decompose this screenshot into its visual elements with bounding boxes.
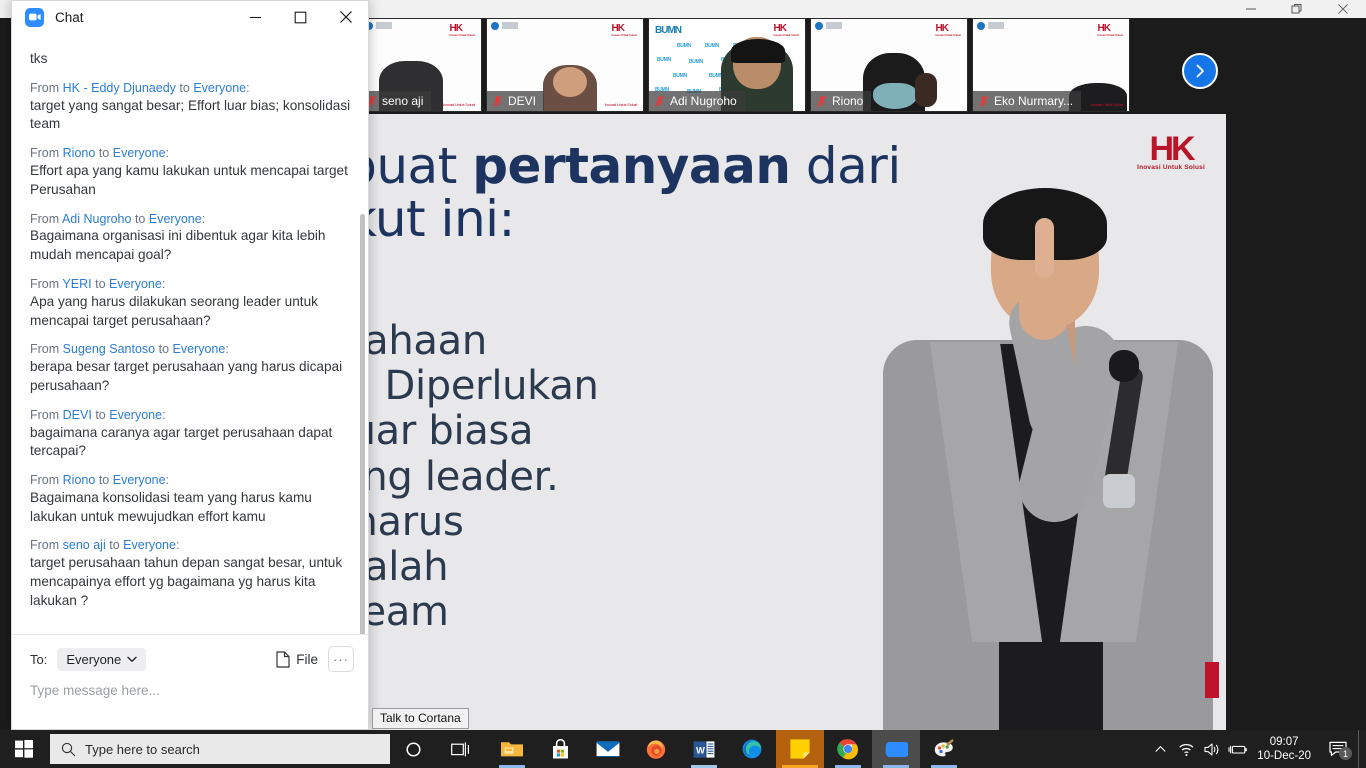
to-label: to — [95, 277, 105, 291]
maximize-icon — [294, 11, 307, 24]
chat-message-body: Bagaimana organisasi ini dibentuk agar k… — [30, 227, 352, 265]
slide-title-bold: pertanyaan — [472, 137, 790, 195]
chat-sender: HK - Eddy Djunaedy — [63, 81, 176, 95]
chat-message-input[interactable]: Type message here... — [30, 683, 354, 698]
battery-charging-icon — [1228, 743, 1248, 756]
windows-taskbar: Type here to search — [0, 730, 1366, 768]
to-label: to — [99, 146, 109, 160]
taskbar-app-paint[interactable] — [920, 730, 968, 768]
from-label: From — [30, 146, 59, 160]
chat-recipient: Everyone — [113, 146, 166, 160]
more-dots-icon: ··· — [333, 652, 349, 667]
chat-sender: Adi Nugroho — [62, 212, 132, 226]
show-desktop-button[interactable] — [1358, 730, 1362, 768]
cortana-button[interactable] — [390, 730, 437, 768]
task-view-button[interactable] — [437, 730, 484, 768]
chat-message: From Adi Nugroho to Everyone: Bagaimana … — [30, 211, 352, 265]
to-label: To: — [30, 652, 47, 667]
chat-recipient: Everyone — [109, 408, 162, 422]
taskbar-apps: W — [488, 730, 968, 768]
participant-tile[interactable]: HKInovasi Untuk Solusi Inovasi Untuk Sol… — [360, 18, 482, 112]
chat-message-body: tks — [30, 50, 352, 69]
paint-icon — [933, 738, 955, 760]
taskbar-app-microsoft-edge[interactable] — [728, 730, 776, 768]
edge-icon — [741, 738, 763, 760]
mic-muted-icon — [492, 95, 503, 108]
show-hidden-icons-button[interactable] — [1147, 730, 1173, 768]
microsoft-store-icon — [550, 739, 571, 760]
file-label: File — [296, 652, 318, 667]
from-label: From — [30, 212, 59, 226]
chat-sender: YERI — [62, 277, 91, 291]
action-center-button[interactable]: 1 — [1321, 730, 1355, 768]
sticky-notes-icon — [789, 738, 811, 760]
chrome-icon — [837, 738, 859, 760]
chat-message-header: From Riono to Everyone: — [30, 145, 352, 162]
mic-muted-icon — [978, 95, 989, 108]
cortana-tooltip: Talk to Cortana — [372, 708, 469, 729]
speaker-icon — [1204, 742, 1221, 757]
chat-more-options-button[interactable]: ··· — [328, 646, 354, 672]
hk-logo-icon: HKInovasi Untuk Solusi — [611, 23, 637, 37]
hk-logo-icon: HKInovasi Untuk Solusi — [1097, 23, 1123, 37]
participant-name: Riono — [832, 94, 863, 108]
slide-title-line2: berikut ini: — [368, 190, 515, 248]
taskbar-app-file-explorer[interactable] — [488, 730, 536, 768]
search-icon — [61, 742, 76, 757]
chat-message: From Riono to Everyone: Effort apa yang … — [30, 145, 352, 199]
chat-recipient: Everyone — [193, 81, 246, 95]
from-label: From — [30, 473, 59, 487]
chat-message-header: From DEVI to Everyone: — [30, 407, 352, 424]
close-button[interactable] — [1320, 0, 1366, 18]
hk-logo-icon: HKInovasi Untuk Solusi — [449, 23, 475, 37]
chat-maximize-button[interactable] — [278, 1, 323, 34]
taskbar-app-microsoft-store[interactable] — [536, 730, 584, 768]
clock[interactable]: 09:07 10-Dec-20 — [1251, 730, 1321, 768]
chat-sender: Sugeng Santoso — [63, 342, 155, 356]
slide-page-marker — [1205, 662, 1219, 698]
chat-window-controls — [233, 1, 368, 34]
attach-file-button[interactable]: File — [276, 651, 318, 668]
hk-footer-mark: Inovasi Untuk Solusi — [605, 102, 637, 107]
from-label: From — [30, 277, 59, 291]
notification-count-badge: 1 — [1339, 747, 1352, 760]
chat-recipient: Everyone — [123, 538, 176, 552]
volume-button[interactable] — [1199, 730, 1225, 768]
zoom-chat-window: Chat — [11, 0, 369, 730]
participant-name: DEVI — [508, 94, 536, 108]
zoom-watermark-text — [502, 22, 518, 29]
minimize-icon — [249, 11, 262, 24]
from-label: From — [30, 81, 59, 95]
to-label: to — [99, 473, 109, 487]
chat-message-body: bagaimana caranya agar target perusahaan… — [30, 424, 352, 462]
chat-message-body: Bagaimana konsolidasi team yang harus ka… — [30, 489, 352, 527]
zoom-watermark-text — [376, 22, 392, 29]
close-icon — [339, 10, 353, 24]
file-icon — [276, 651, 290, 668]
chat-recipient: Everyone — [149, 212, 202, 226]
shared-screen-slide[interactable]: an, buat pertanyaan dari berikut ini: pe… — [368, 114, 1226, 730]
chat-message-list[interactable]: tks From HK - Eddy Djunaedy to Everyone:… — [12, 34, 368, 634]
mic-muted-icon — [816, 95, 827, 108]
svg-text:W: W — [696, 744, 705, 755]
mail-icon — [596, 740, 620, 758]
chat-message-header: From YERI to Everyone: — [30, 276, 352, 293]
zoom-watermark-icon — [977, 22, 985, 30]
chat-recipient: Everyone — [109, 277, 162, 291]
clock-date: 10-Dec-20 — [1257, 749, 1311, 763]
chat-compose-area: To: Everyone File — [12, 634, 368, 729]
chat-recipient: Everyone — [173, 342, 226, 356]
to-label: to — [95, 408, 105, 422]
participant-name: Adi Nugroho — [670, 94, 737, 108]
from-label: From — [30, 538, 59, 552]
hk-logo-icon: HKInovasi Untuk Solusi — [773, 23, 799, 37]
chat-message-body: Effort apa yang kamu lakukan untuk menca… — [30, 162, 352, 200]
chat-sender: DEVI — [63, 408, 92, 422]
task-view-icon — [451, 741, 470, 758]
window-controls — [1228, 0, 1366, 18]
zoom-video-icon — [25, 8, 44, 27]
battery-button[interactable] — [1225, 730, 1251, 768]
chat-message: From YERI to Everyone: Apa yang harus di… — [30, 276, 352, 330]
to-label: to — [159, 342, 169, 356]
participant-tile[interactable]: HKInovasi Untuk Solusi Inovasi Untuk Sol… — [486, 18, 644, 112]
chat-message-body: Apa yang harus dilakukan seorang leader … — [30, 293, 352, 331]
word-icon: W — [693, 739, 715, 760]
participant-name-chip: DEVI — [487, 91, 544, 111]
hk-footer-mark: Inovasi Untuk Solusi — [443, 102, 475, 107]
chat-message-header: From Adi Nugroho to Everyone: — [30, 211, 352, 228]
participant-name-chip: Adi Nugroho — [649, 91, 745, 111]
chat-recipient-dropdown[interactable]: Everyone — [57, 648, 146, 671]
search-input[interactable]: Type here to search — [50, 734, 390, 764]
start-button[interactable] — [0, 730, 47, 768]
search-placeholder: Type here to search — [85, 742, 200, 757]
participant-tile[interactable]: HKInovasi Untuk Solusi Inovasi Untuk Sol… — [972, 18, 1130, 112]
hk-logo-icon: HKInovasi Untuk Solusi — [935, 23, 961, 37]
to-label: to — [109, 538, 119, 552]
restore-button[interactable] — [1274, 0, 1320, 18]
participant-name-chip: Eko Nurmary... — [973, 91, 1081, 111]
zoom-watermark-icon — [815, 22, 823, 30]
chevron-down-icon — [127, 656, 137, 663]
to-label: to — [179, 81, 189, 95]
chat-sender: Riono — [63, 473, 96, 487]
chat-message-body: target yang sangat besar; Effort luar bi… — [30, 97, 352, 135]
taskbar-app-mail[interactable] — [584, 730, 632, 768]
cortana-icon — [405, 741, 422, 758]
participant-tile[interactable]: HKInovasi Untuk Solusi Riono — [810, 18, 968, 112]
chat-recipient-value: Everyone — [66, 652, 121, 667]
participant-name-chip: Riono — [811, 91, 871, 111]
participant-tile[interactable]: BUMN BUMN BUMN BUMN BUMN BUMN BUMN BUMN … — [648, 18, 806, 112]
participant-name-chip: seno aji — [361, 91, 431, 111]
firefox-icon — [645, 738, 667, 760]
chat-close-button[interactable] — [323, 1, 368, 34]
desktop-root: HKInovasi Untuk Solusi Inovasi Untuk Sol… — [0, 0, 1366, 768]
chat-titlebar[interactable]: Chat — [12, 1, 368, 34]
chat-message: From HK - Eddy Djunaedy to Everyone: tar… — [30, 80, 352, 134]
mic-muted-icon — [654, 95, 665, 108]
to-label: to — [135, 212, 145, 226]
file-explorer-icon — [500, 739, 524, 759]
chat-message: From DEVI to Everyone: bagaimana caranya… — [30, 407, 352, 461]
bumn-logo-icon: BUMN — [655, 25, 681, 36]
chat-message-header: From Riono to Everyone: — [30, 472, 352, 489]
hk-footer-mark: Inovasi Untuk Solusi — [1091, 102, 1123, 107]
from-label: From — [30, 408, 59, 422]
chat-minimize-button[interactable] — [233, 1, 278, 34]
wifi-icon — [1178, 742, 1195, 757]
participant-name: seno aji — [382, 94, 423, 108]
chevron-up-icon — [1155, 745, 1166, 753]
chat-scrollbar-thumb[interactable] — [360, 214, 365, 634]
taskbar-app-microsoft-word[interactable]: W — [680, 730, 728, 768]
windows-logo-icon — [15, 740, 33, 758]
chat-message-header: From HK - Eddy Djunaedy to Everyone: — [30, 80, 352, 97]
zoom-icon — [885, 741, 908, 758]
filmstrip-next-button[interactable] — [1182, 53, 1218, 89]
chat-message-body: berapa besar target perusahaan yang haru… — [30, 358, 352, 396]
taskbar-app-zoom[interactable] — [872, 730, 920, 768]
zoom-watermark-icon — [491, 22, 499, 30]
slide-title-mid: buat — [368, 137, 472, 195]
chat-recipient: Everyone — [113, 473, 166, 487]
chat-window-title: Chat — [55, 10, 84, 25]
taskbar-app-firefox[interactable] — [632, 730, 680, 768]
chat-message-header: From Sugeng Santoso to Everyone: — [30, 341, 352, 358]
chat-message: From Riono to Everyone: Bagaimana konsol… — [30, 472, 352, 526]
chat-message: tks — [30, 50, 352, 69]
network-button[interactable] — [1173, 730, 1199, 768]
chevron-right-icon — [1192, 63, 1208, 79]
minimize-button[interactable] — [1228, 0, 1274, 18]
presenter-photo — [823, 144, 1226, 730]
chat-message: From seno aji to Everyone: target perusa… — [30, 537, 352, 610]
chat-message-header: From seno aji to Everyone: — [30, 537, 352, 554]
taskbar-app-sticky-notes[interactable] — [776, 730, 824, 768]
taskbar-app-google-chrome[interactable] — [824, 730, 872, 768]
zoom-watermark-text — [988, 22, 1004, 29]
clock-time: 09:07 — [1270, 735, 1299, 749]
chat-sender: seno aji — [63, 538, 106, 552]
chat-message: From Sugeng Santoso to Everyone: berapa … — [30, 341, 352, 395]
participant-name: Eko Nurmary... — [994, 94, 1073, 108]
system-tray: 09:07 10-Dec-20 1 — [1147, 730, 1366, 768]
chat-message-body: target perusahaan tahun depan sangat bes… — [30, 554, 352, 610]
zoom-watermark-text — [826, 22, 842, 29]
chat-sender: Riono — [63, 146, 96, 160]
from-label: From — [30, 342, 59, 356]
